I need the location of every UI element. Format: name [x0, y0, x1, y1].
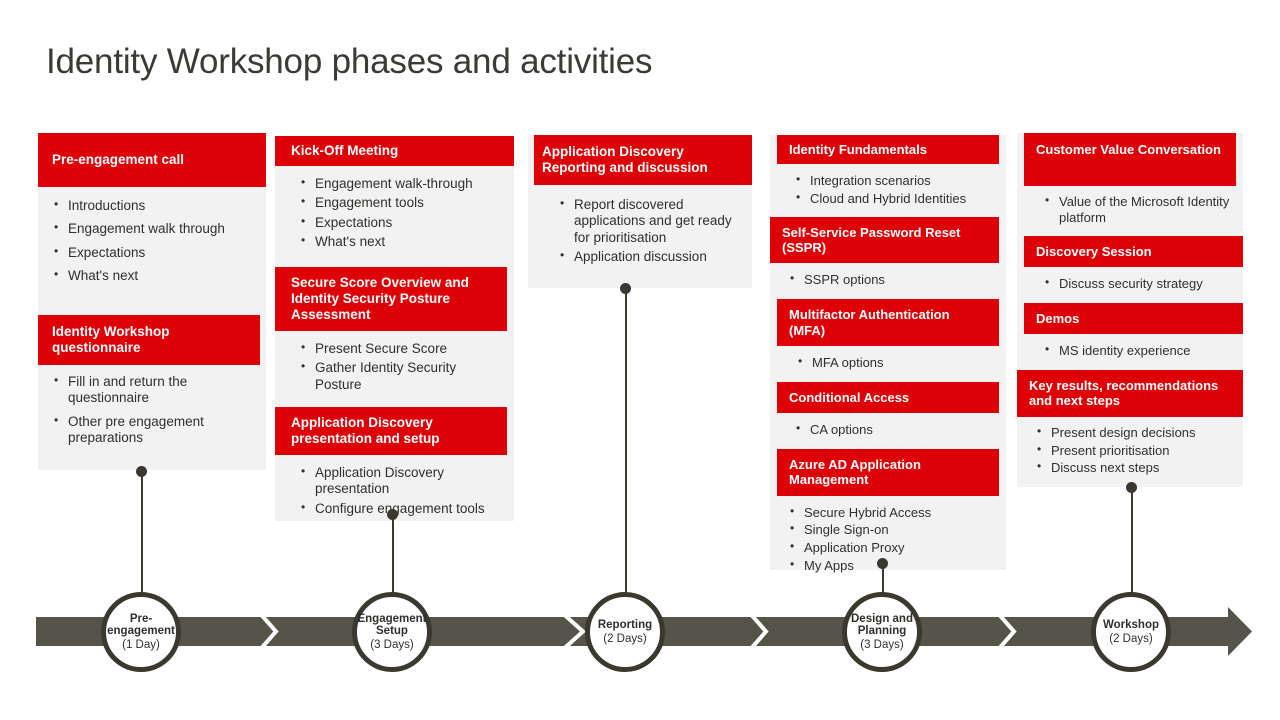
list-item: Report discovered applications and get r…	[554, 197, 748, 246]
section-heading: Identity Fundamentals	[777, 135, 999, 164]
list-item: Application Proxy	[784, 540, 1000, 556]
timeline-node-label: Engagement Setup	[357, 613, 427, 638]
timeline-node-design-and-planning[interactable]: Design and Planning (3 Days)	[842, 592, 922, 672]
timeline-node-duration: (3 Days)	[860, 639, 903, 651]
list-item: Engagement tools	[295, 195, 506, 211]
section-heading: Customer Value Conversation	[1024, 133, 1236, 186]
list-item: CA options	[790, 422, 1000, 438]
list-item: Secure Hybrid Access	[784, 505, 1000, 521]
list-item: Engagement walk through	[48, 221, 260, 237]
section-item-list: Secure Hybrid Access Single Sign-on Appl…	[770, 496, 1006, 574]
phase-column-engagement-setup: Kick-Off Meeting Engagement walk-through…	[275, 136, 514, 521]
list-item: Single Sign-on	[784, 522, 1000, 538]
section-item-list: MS identity experience	[1017, 334, 1243, 359]
section-item-list: Present design decisions Present priorit…	[1017, 417, 1243, 477]
timeline-node-workshop[interactable]: Workshop (2 Days)	[1091, 592, 1171, 672]
section-heading: Identity Workshop questionnaire	[38, 315, 260, 365]
section-item-list: Introductions Engagement walk through Ex…	[38, 187, 266, 294]
timeline-node-label: Design and Planning	[847, 613, 917, 638]
section-item-list: Fill in and return the questionnaire Oth…	[38, 365, 266, 456]
timeline-node-pre-engagement[interactable]: Pre-engagement (1 Day)	[101, 592, 181, 672]
timeline-node-duration: (3 Days)	[370, 639, 413, 651]
connector-line-design-planning	[882, 563, 884, 593]
list-item: Introductions	[48, 198, 260, 214]
section-item-list: CA options	[770, 413, 1006, 438]
connector-line-reporting	[625, 288, 627, 593]
section-heading: Self-Service Password Reset (SSPR)	[770, 217, 999, 264]
section-heading: Multifactor Authentication (MFA)	[777, 299, 999, 346]
list-item: Fill in and return the questionnaire	[48, 374, 260, 407]
list-item: Application Discovery presentation	[295, 465, 506, 498]
list-item: Configure engagement tools	[295, 501, 506, 517]
section-item-list: Present Secure Score Gather Identity Sec…	[275, 331, 514, 393]
list-item: Other pre engagement preparations	[48, 414, 260, 447]
timeline-node-duration: (2 Days)	[1109, 633, 1152, 645]
connector-line-workshop	[1131, 487, 1133, 593]
section-heading: Application Discovery presentation and s…	[275, 407, 507, 455]
list-item: Present Secure Score	[295, 341, 506, 357]
connector-line-pre-engagement	[141, 471, 143, 593]
slide-canvas: Identity Workshop phases and activities …	[0, 0, 1280, 720]
section-item-list: Application Discovery presentation Confi…	[275, 455, 514, 517]
list-item: Expectations	[48, 245, 260, 261]
section-heading: Discovery Session	[1024, 236, 1243, 267]
section-heading: Secure Score Overview and Identity Secur…	[275, 267, 507, 331]
list-item: MFA options	[792, 355, 1000, 371]
list-item: Expectations	[295, 215, 506, 231]
timeline-node-reporting[interactable]: Reporting (2 Days)	[585, 592, 665, 672]
list-item: What's next	[48, 268, 260, 284]
list-item: My Apps	[784, 558, 1000, 574]
section-heading: Conditional Access	[777, 382, 999, 413]
list-item: What's next	[295, 234, 506, 250]
timeline-node-label: Pre-engagement	[106, 613, 176, 638]
phase-column-design-and-planning: Identity Fundamentals Integration scenar…	[770, 135, 1006, 570]
timeline-node-label: Reporting	[598, 619, 652, 631]
section-item-list: SSPR options	[770, 263, 1006, 288]
list-item: Present prioritisation	[1031, 443, 1235, 459]
list-item: Integration scenarios	[790, 173, 1000, 189]
phase-column-pre-engagement: Pre-engagement call Introductions Engage…	[38, 133, 266, 470]
list-item: Value of the Microsoft Identity platform	[1039, 194, 1235, 226]
phase-timeline: Pre-engagement (1 Day) Engagement Setup …	[0, 590, 1280, 700]
timeline-node-engagement-setup[interactable]: Engagement Setup (3 Days)	[352, 592, 432, 672]
list-item: Application discussion	[554, 249, 748, 265]
section-item-list: MFA options	[770, 346, 1006, 371]
connector-line-engagement-setup	[392, 514, 394, 593]
list-item: Gather Identity Security Posture	[295, 360, 506, 393]
list-item: Discuss next steps	[1031, 460, 1235, 476]
section-heading: Demos	[1024, 303, 1243, 334]
section-heading: Key results, recommendations and next st…	[1017, 370, 1243, 417]
section-heading: Pre-engagement call	[38, 133, 266, 187]
timeline-node-label: Workshop	[1103, 619, 1159, 631]
list-item: Present design decisions	[1031, 425, 1235, 441]
section-heading: Kick-Off Meeting	[275, 136, 514, 166]
page-title: Identity Workshop phases and activities	[46, 42, 652, 82]
section-heading: Application Discovery Reporting and disc…	[534, 135, 752, 185]
section-item-list: Integration scenarios Cloud and Hybrid I…	[770, 164, 1006, 207]
list-item: SSPR options	[784, 272, 1000, 288]
section-item-list: Report discovered applications and get r…	[528, 185, 752, 266]
section-item-list: Engagement walk-through Engagement tools…	[275, 166, 514, 251]
timeline-node-duration: (2 Days)	[603, 633, 646, 645]
list-item: Engagement walk-through	[295, 176, 506, 192]
phase-column-reporting: Application Discovery Reporting and disc…	[528, 135, 752, 288]
list-item: MS identity experience	[1039, 343, 1235, 359]
phase-column-workshop: Customer Value Conversation Value of the…	[1017, 133, 1243, 487]
list-item: Cloud and Hybrid Identities	[790, 191, 1000, 207]
section-item-list: Value of the Microsoft Identity platform	[1017, 186, 1243, 226]
section-item-list: Discuss security strategy	[1017, 267, 1243, 292]
timeline-node-duration: (1 Day)	[122, 639, 160, 651]
section-heading: Azure AD Application Management	[777, 449, 999, 496]
list-item: Discuss security strategy	[1039, 276, 1235, 292]
